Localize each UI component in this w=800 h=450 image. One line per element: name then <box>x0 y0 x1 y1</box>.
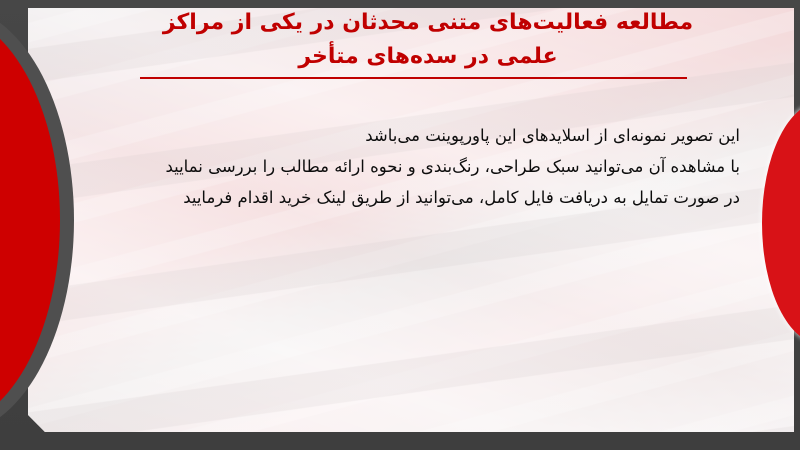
presentation-slide: مطالعه فعالیت‌های متنی محدثان در یکی از … <box>0 0 800 450</box>
body-line-3: در صورت تمایل به دریافت فایل کامل، می‌تو… <box>50 182 740 213</box>
slide-body-text: این تصویر نمونه‌ای از اسلایدهای این پاور… <box>50 120 740 213</box>
body-line-1: این تصویر نمونه‌ای از اسلایدهای این پاور… <box>50 120 740 151</box>
title-underline-rule <box>140 77 687 79</box>
body-line-2: با مشاهده آن می‌توانید سبک طراحی، رنگ‌بن… <box>50 151 740 182</box>
slide-title: مطالعه فعالیت‌های متنی محدثان در یکی از … <box>108 6 748 74</box>
slide-title-line-1: مطالعه فعالیت‌های متنی محدثان در یکی از … <box>108 6 748 40</box>
slide-title-line-2: علمی در سده‌های متأخر <box>108 40 748 74</box>
